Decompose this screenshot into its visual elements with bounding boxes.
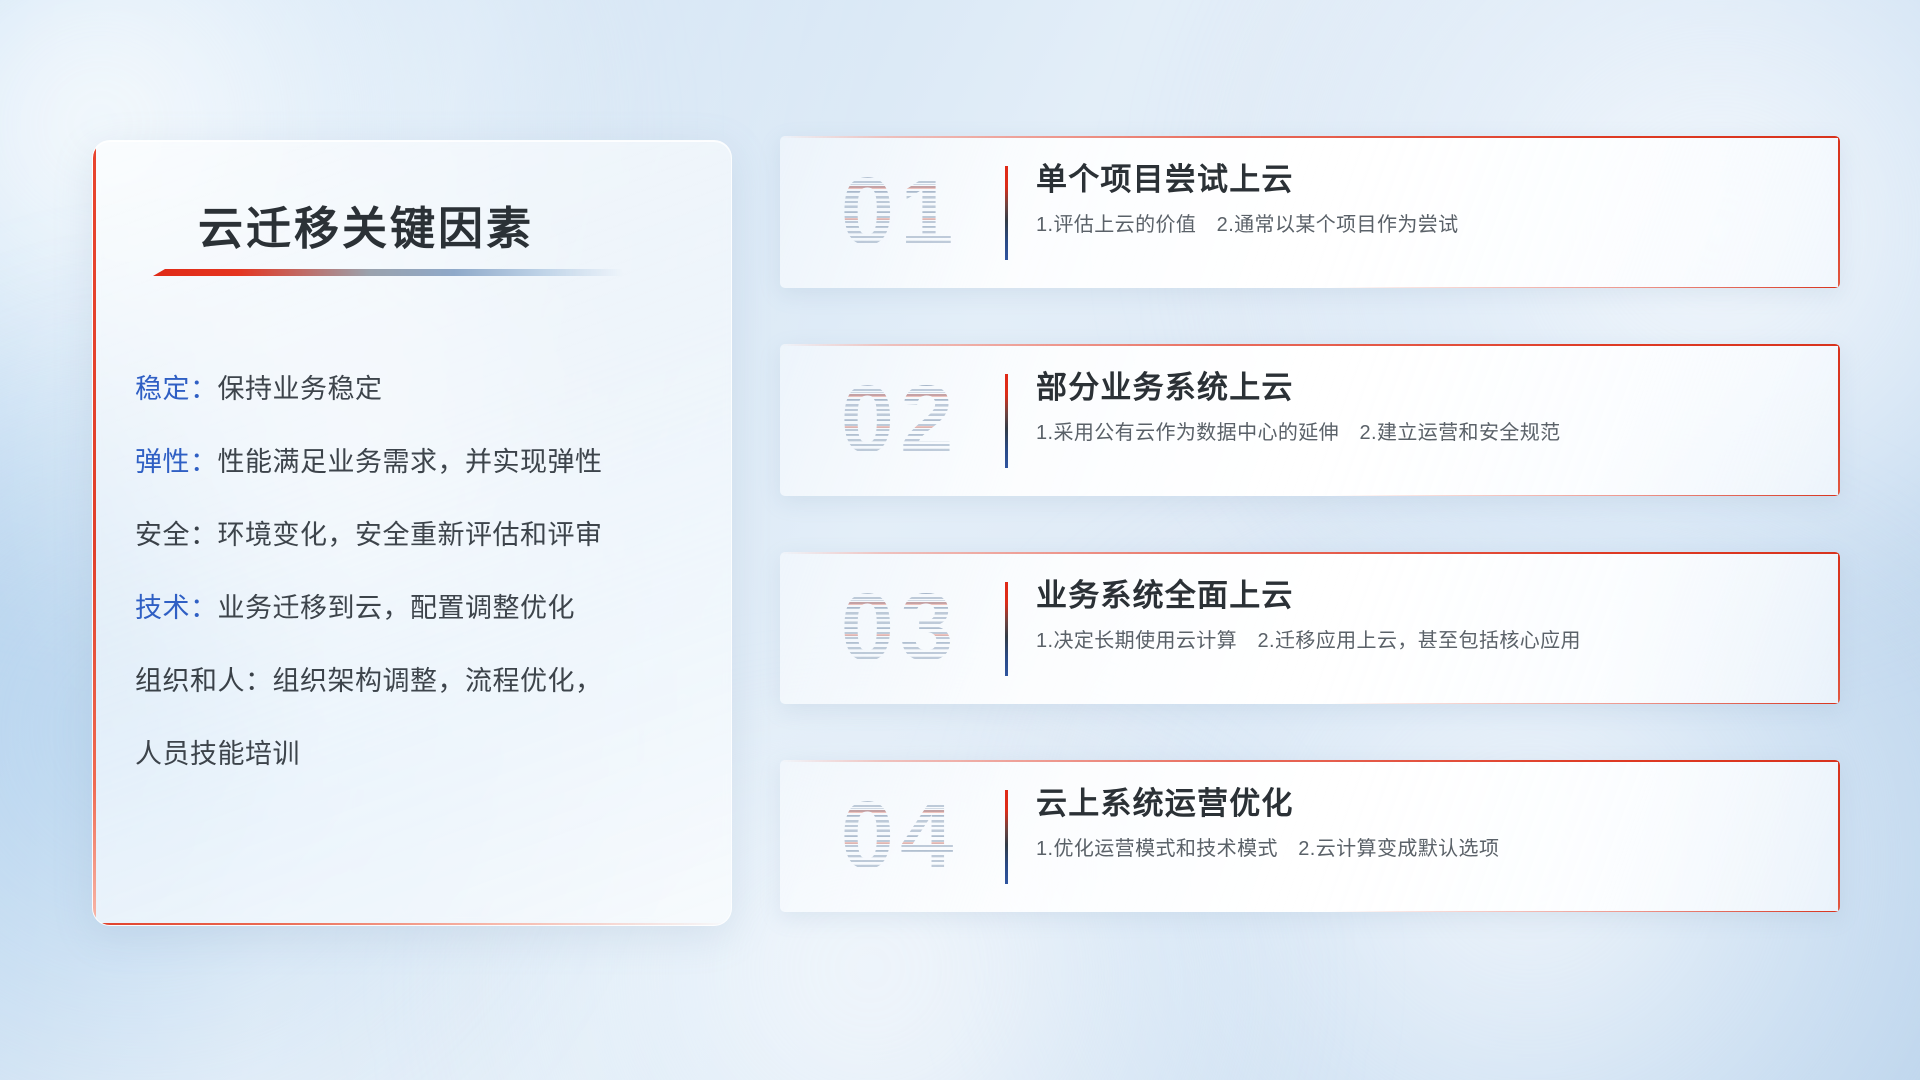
card-body: 业务系统全面上云 1.决定长期使用云计算 2.迁移应用上云，甚至包括核心应用 (1036, 572, 1816, 662)
list-item-label: 安全： (135, 520, 218, 550)
card-body: 单个项目尝试上云 1.评估上云的价值 2.通常以某个项目作为尝试 (1036, 156, 1816, 246)
card-bottom-accent (1331, 495, 1840, 497)
stage-number-glyph-tint: 01 (810, 156, 990, 268)
card-body: 部分业务系统上云 1.采用公有云作为数据中心的延伸 2.建立运营和安全规范 (1036, 364, 1816, 454)
card-bottom-accent (1331, 703, 1840, 705)
card-divider-bar (1005, 790, 1008, 884)
stage-card-list: 01 01 01 单个项目尝试上云 1.评估上云的价值 2.通常以某个项目作为尝… (780, 136, 1840, 968)
list-item: 技术：业务迁移到云，配置调整优化 (135, 572, 705, 645)
card-right-accent (1838, 552, 1840, 704)
card-title: 单个项目尝试上云 (1036, 156, 1816, 204)
list-item: 稳定：保持业务稳定 (135, 353, 705, 426)
stage-card-02[interactable]: 02 02 02 部分业务系统上云 1.采用公有云作为数据中心的延伸 2.建立运… (780, 344, 1840, 496)
card-divider-bar (1005, 166, 1008, 260)
card-body: 云上系统运营优化 1.优化运营模式和技术模式 2.云计算变成默认选项 (1036, 780, 1816, 870)
list-item-value: 组织架构调整，流程优化， (273, 666, 603, 696)
card-divider-bar (1005, 582, 1008, 676)
stage-card-01[interactable]: 01 01 01 单个项目尝试上云 1.评估上云的价值 2.通常以某个项目作为尝… (780, 136, 1840, 288)
card-title: 业务系统全面上云 (1036, 572, 1816, 620)
card-right-accent (1838, 760, 1840, 912)
card-top-accent (780, 760, 1840, 762)
card-bottom-accent (1331, 911, 1840, 913)
list-item: 安全：环境变化，安全重新评估和评审 (135, 499, 705, 572)
stage-number: 03 03 03 (810, 572, 990, 684)
list-item-value: 保持业务稳定 (218, 374, 383, 404)
stage-number: 04 04 04 (810, 780, 990, 892)
list-item-value: 环境变化，安全重新评估和评审 (218, 520, 603, 550)
card-right-accent (1838, 344, 1840, 496)
list-item-label: 弹性： (135, 447, 218, 477)
stage-number: 02 02 02 (810, 364, 990, 476)
list-item-value: 性能满足业务需求，并实现弹性 (218, 447, 603, 477)
page-title: 云迁移关键因素 (198, 192, 534, 257)
stage-card-04[interactable]: 04 04 04 云上系统运营优化 1.优化运营模式和技术模式 2.云计算变成默… (780, 760, 1840, 912)
card-subtitle: 1.评估上云的价值 2.通常以某个项目作为尝试 (1036, 204, 1816, 246)
list-item-value: 业务迁移到云，配置调整优化 (218, 593, 576, 623)
slide-stage: 云迁移关键因素 稳定：保持业务稳定 弹性：性能满足业务需求，并实现弹性 安全：环… (0, 0, 1920, 1080)
card-bottom-accent (1331, 287, 1840, 289)
list-item-label: 技术： (135, 593, 218, 623)
card-subtitle: 1.采用公有云作为数据中心的延伸 2.建立运营和安全规范 (1036, 412, 1816, 454)
title-underline-accent (153, 269, 623, 276)
stage-number-glyph-tint: 04 (810, 780, 990, 892)
key-factors-list: 稳定：保持业务稳定 弹性：性能满足业务需求，并实现弹性 安全：环境变化，安全重新… (135, 353, 705, 791)
card-top-accent (780, 552, 1840, 554)
stage-number-glyph-tint: 02 (810, 364, 990, 476)
stage-card-03[interactable]: 03 03 03 业务系统全面上云 1.决定长期使用云计算 2.迁移应用上云，甚… (780, 552, 1840, 704)
card-title: 部分业务系统上云 (1036, 364, 1816, 412)
list-item-continuation: 人员技能培训 (135, 718, 705, 791)
list-item: 弹性：性能满足业务需求，并实现弹性 (135, 426, 705, 499)
card-subtitle: 1.优化运营模式和技术模式 2.云计算变成默认选项 (1036, 828, 1816, 870)
card-top-accent (780, 136, 1840, 138)
card-top-accent (780, 344, 1840, 346)
key-factors-panel: 云迁移关键因素 稳定：保持业务稳定 弹性：性能满足业务需求，并实现弹性 安全：环… (92, 140, 732, 926)
stage-number: 01 01 01 (810, 156, 990, 268)
list-item-label: 组织和人： (135, 666, 273, 696)
card-title: 云上系统运营优化 (1036, 780, 1816, 828)
list-item-label: 稳定： (135, 374, 218, 404)
card-right-accent (1838, 136, 1840, 288)
card-subtitle: 1.决定长期使用云计算 2.迁移应用上云，甚至包括核心应用 (1036, 620, 1816, 662)
card-divider-bar (1005, 374, 1008, 468)
list-item: 组织和人：组织架构调整，流程优化， (135, 645, 705, 718)
list-item-value: 人员技能培训 (135, 739, 300, 769)
stage-number-glyph-tint: 03 (810, 572, 990, 684)
